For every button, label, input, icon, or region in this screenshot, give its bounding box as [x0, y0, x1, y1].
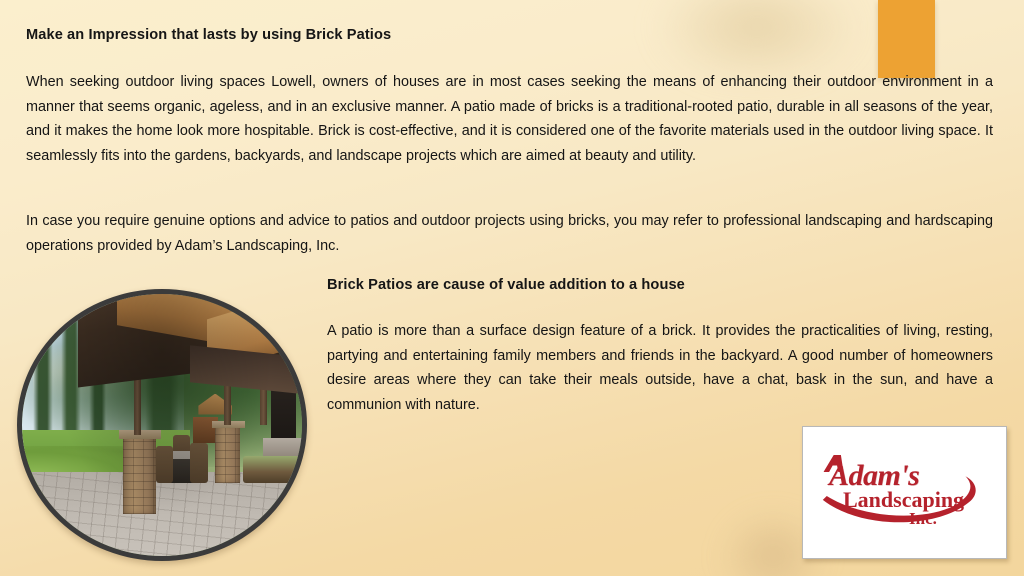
- adams-landscaping-logo: Adam's Landscaping Inc.: [802, 426, 1007, 559]
- photo-patio-chair: [156, 446, 173, 483]
- slide-canvas: Make an Impression that lasts by using B…: [0, 0, 1024, 576]
- body-paragraph-value: A patio is more than a surface design fe…: [327, 319, 993, 417]
- logo-line-inc: Inc.: [909, 509, 937, 529]
- patio-photo-scene: [22, 294, 302, 556]
- page-title: Make an Impression that lasts by using B…: [26, 27, 391, 43]
- body-paragraph-contact: In case you require genuine options and …: [26, 209, 993, 258]
- logo-artwork: Adam's Landscaping Inc.: [803, 427, 1006, 558]
- covered-patio-photo: [17, 289, 307, 561]
- logo-line-landscaping: Landscaping: [843, 487, 964, 513]
- orange-accent-bar: [878, 0, 935, 78]
- photo-stone-column: [123, 435, 157, 514]
- section-heading-value-addition: Brick Patios are cause of value addition…: [327, 277, 685, 293]
- photo-paver-floor: [22, 472, 302, 556]
- photo-patio-chair: [190, 443, 208, 482]
- body-paragraph-intro: When seeking outdoor living spaces Lowel…: [26, 70, 993, 168]
- photo-patio-bench: [243, 456, 299, 482]
- photo-stone-column: [215, 425, 240, 483]
